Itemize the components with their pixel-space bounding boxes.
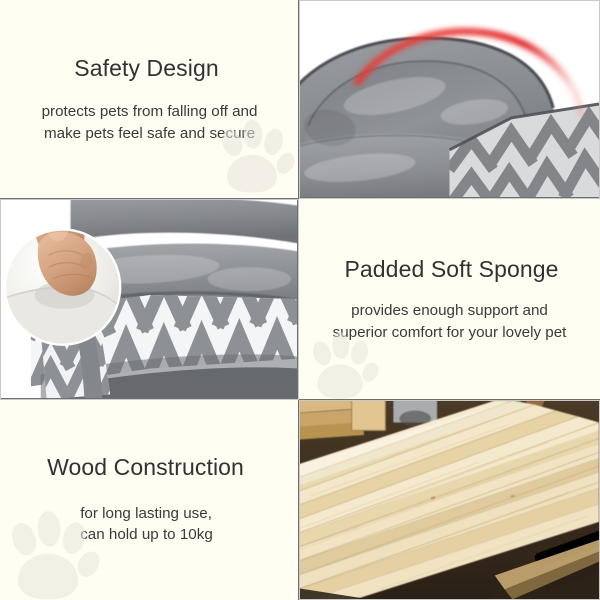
wood-construction-body: for long lasting use, can hold up to 10k… xyxy=(80,503,213,546)
panel-sofa-backrest-photo xyxy=(299,0,600,199)
sofa-backrest-image xyxy=(300,1,599,198)
safety-design-body-line-2: make pets feel safe and secure xyxy=(42,123,258,145)
panel-wood-construction: Wood Construction for long lasting use, … xyxy=(0,400,299,600)
padded-soft-sponge-body-line-2: superior comfort for your lovely pet xyxy=(333,322,567,344)
foam-press-image xyxy=(1,200,298,399)
panel-safety-design: Safety Design protects pets from falling… xyxy=(0,0,299,199)
padded-soft-sponge-heading: Padded Soft Sponge xyxy=(344,256,558,282)
wood-boards-image xyxy=(300,401,599,599)
panel-padded-soft-sponge: Padded Soft Sponge provides enough suppo… xyxy=(299,199,600,400)
wood-construction-body-line-2: can hold up to 10kg xyxy=(80,524,213,546)
feature-grid: Safety Design protects pets from falling… xyxy=(0,0,600,600)
panel-wood-boards-photo xyxy=(299,400,600,600)
safety-design-body-line-1: protects pets from falling off and xyxy=(42,101,258,123)
safety-design-heading: Safety Design xyxy=(74,55,219,81)
product-feature-poster: Safety Design protects pets from falling… xyxy=(0,0,600,600)
panel-foam-press-photo xyxy=(0,199,299,400)
safety-design-body: protects pets from falling off and make … xyxy=(42,101,258,144)
wood-construction-body-line-1: for long lasting use, xyxy=(80,503,213,525)
wood-construction-heading: Wood Construction xyxy=(47,454,244,480)
padded-soft-sponge-body-line-1: provides enough support and xyxy=(333,300,567,322)
padded-soft-sponge-body: provides enough support and superior com… xyxy=(333,300,567,343)
